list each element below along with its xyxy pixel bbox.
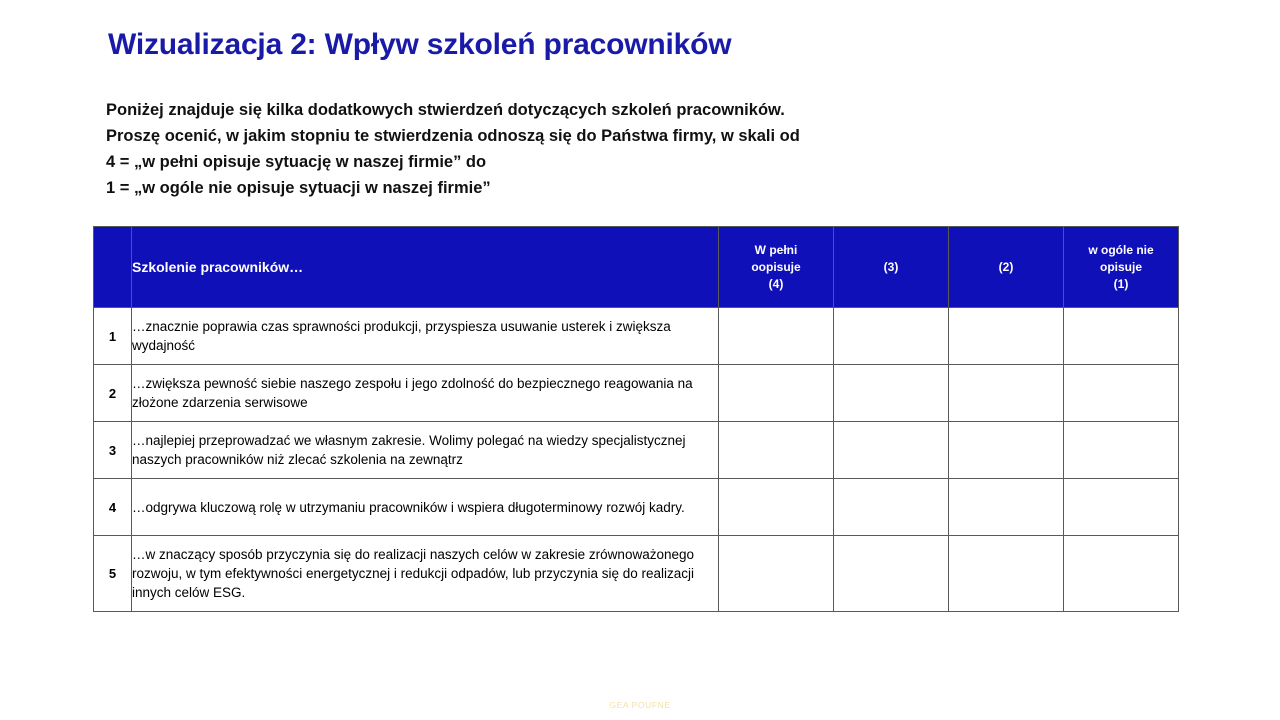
header-rating-column-1: w ogóle nie opisuje (1) bbox=[1064, 227, 1179, 308]
rating-cell-4[interactable] bbox=[719, 308, 834, 365]
row-statement: …najlepiej przeprowadzać we własnym zakr… bbox=[132, 422, 719, 479]
table-body: 1 …znacznie poprawia czas sprawności pro… bbox=[94, 308, 1179, 612]
table-row: 1 …znacznie poprawia czas sprawności pro… bbox=[94, 308, 1179, 365]
survey-table: Szkolenie pracowników… W pełni oopisuje … bbox=[93, 226, 1179, 612]
header-rating-4-line-1: W pełni bbox=[719, 242, 833, 259]
header-number-column bbox=[94, 227, 132, 308]
rating-cell-4[interactable] bbox=[719, 536, 834, 612]
header-rating-1-line-2: opisuje bbox=[1064, 259, 1178, 276]
rating-cell-1[interactable] bbox=[1064, 479, 1179, 536]
confidentiality-footer: GEA POUFNE bbox=[0, 700, 1280, 710]
table-row: 4 …odgrywa kluczową rolę w utrzymaniu pr… bbox=[94, 479, 1179, 536]
row-number: 2 bbox=[94, 365, 132, 422]
table-row: 3 …najlepiej przeprowadzać we własnym za… bbox=[94, 422, 1179, 479]
header-rating-column-3: (3) bbox=[834, 227, 949, 308]
rating-cell-4[interactable] bbox=[719, 422, 834, 479]
header-rating-1-line-3: (1) bbox=[1064, 276, 1178, 293]
header-row: Szkolenie pracowników… W pełni oopisuje … bbox=[94, 227, 1179, 308]
table-row: 5 …w znaczący sposób przyczynia się do r… bbox=[94, 536, 1179, 612]
header-rating-4-line-3: (4) bbox=[719, 276, 833, 293]
table-row: 2 …zwiększa pewność siebie naszego zespo… bbox=[94, 365, 1179, 422]
rating-cell-2[interactable] bbox=[949, 365, 1064, 422]
row-statement: …odgrywa kluczową rolę w utrzymaniu prac… bbox=[132, 479, 719, 536]
rating-cell-3[interactable] bbox=[834, 536, 949, 612]
intro-line-1: Poniżej znajduje się kilka dodatkowych s… bbox=[106, 97, 1046, 123]
rating-cell-2[interactable] bbox=[949, 422, 1064, 479]
rating-cell-1[interactable] bbox=[1064, 365, 1179, 422]
rating-cell-4[interactable] bbox=[719, 365, 834, 422]
header-rating-4-line-2: oopisuje bbox=[719, 259, 833, 276]
row-number: 4 bbox=[94, 479, 132, 536]
header-statement-column: Szkolenie pracowników… bbox=[132, 227, 719, 308]
page-title: Wizualizacja 2: Wpływ szkoleń pracownikó… bbox=[108, 28, 731, 62]
intro-paragraph: Poniżej znajduje się kilka dodatkowych s… bbox=[106, 97, 1046, 201]
rating-cell-1[interactable] bbox=[1064, 536, 1179, 612]
rating-cell-1[interactable] bbox=[1064, 422, 1179, 479]
rating-cell-4[interactable] bbox=[719, 479, 834, 536]
survey-table-container: Szkolenie pracowników… W pełni oopisuje … bbox=[93, 226, 1170, 612]
rating-cell-3[interactable] bbox=[834, 479, 949, 536]
rating-cell-3[interactable] bbox=[834, 365, 949, 422]
header-rating-column-2: (2) bbox=[949, 227, 1064, 308]
row-number: 5 bbox=[94, 536, 132, 612]
rating-cell-3[interactable] bbox=[834, 422, 949, 479]
row-number: 1 bbox=[94, 308, 132, 365]
row-statement: …zwiększa pewność siebie naszego zespołu… bbox=[132, 365, 719, 422]
intro-line-3: 4 = „w pełni opisuje sytuację w naszej f… bbox=[106, 149, 1046, 175]
table-header: Szkolenie pracowników… W pełni oopisuje … bbox=[94, 227, 1179, 308]
rating-cell-2[interactable] bbox=[949, 536, 1064, 612]
rating-cell-3[interactable] bbox=[834, 308, 949, 365]
intro-line-2: Proszę ocenić, w jakim stopniu te stwier… bbox=[106, 123, 1046, 149]
row-statement: …w znaczący sposób przyczynia się do rea… bbox=[132, 536, 719, 612]
rating-cell-1[interactable] bbox=[1064, 308, 1179, 365]
rating-cell-2[interactable] bbox=[949, 308, 1064, 365]
intro-line-4: 1 = „w ogóle nie opisuje sytuacji w nasz… bbox=[106, 175, 1046, 201]
header-rating-column-4: W pełni oopisuje (4) bbox=[719, 227, 834, 308]
row-number: 3 bbox=[94, 422, 132, 479]
header-rating-2-line-1: (2) bbox=[949, 259, 1063, 276]
rating-cell-2[interactable] bbox=[949, 479, 1064, 536]
row-statement: …znacznie poprawia czas sprawności produ… bbox=[132, 308, 719, 365]
header-rating-3-line-1: (3) bbox=[834, 259, 948, 276]
header-rating-1-line-1: w ogóle nie bbox=[1064, 242, 1178, 259]
